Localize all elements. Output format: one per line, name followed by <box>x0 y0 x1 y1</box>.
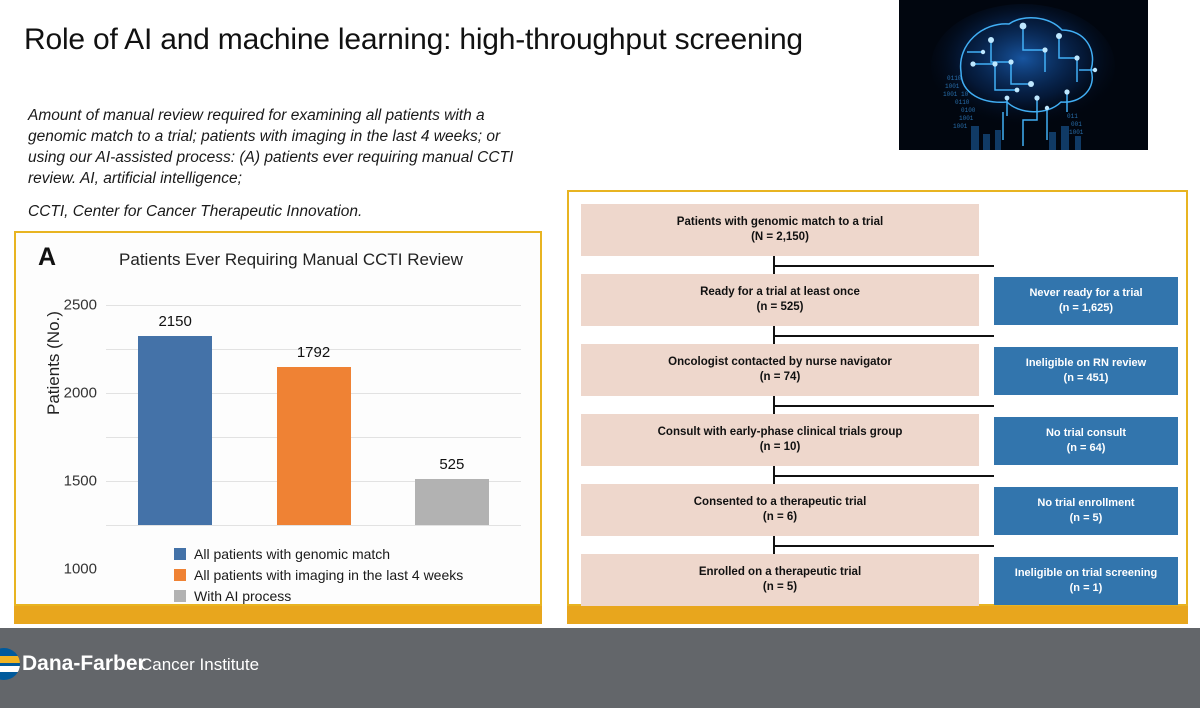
flow-step-label: Patients with genomic match to a trial <box>677 215 883 230</box>
flow-step-count: (n = 10) <box>760 440 801 455</box>
flow-exclusion-label: Ineligible on trial screening <box>1015 566 1157 581</box>
chart-bar-value-label: 2150 <box>138 313 212 330</box>
chart-legend-item: With AI process <box>174 585 463 606</box>
panel-b-accent-bar <box>567 606 1188 624</box>
chart-y-axis-label: Patients (No.) <box>44 311 64 415</box>
panel-label-a: A <box>38 243 56 272</box>
chart-y-tick: 2000 <box>64 385 97 402</box>
svg-text:011: 011 <box>1067 113 1078 120</box>
legend-swatch-icon <box>174 569 186 581</box>
flow-step-count: (n = 74) <box>760 370 801 385</box>
svg-text:001: 001 <box>1071 121 1082 128</box>
chart-legend: All patients with genomic matchAll patie… <box>174 543 463 606</box>
chart-legend-item: All patients with imaging in the last 4 … <box>174 564 463 585</box>
flow-connector-horizontal <box>773 265 994 267</box>
brain-graphic: 01101001 1001 100110 01001001 1001 01100… <box>899 0 1148 150</box>
caption-line-1: Amount of manual review required for exa… <box>28 107 513 187</box>
flow-exclusion-count: (n = 64) <box>1067 441 1106 456</box>
slide-root: Role of AI and machine learning: high-th… <box>0 0 1200 708</box>
legend-swatch-icon <box>174 590 186 602</box>
flow-connector-horizontal <box>773 405 994 407</box>
legend-label: All patients with imaging in the last 4 … <box>194 567 463 583</box>
svg-text:0110: 0110 <box>947 75 962 82</box>
svg-text:1001: 1001 <box>1069 129 1084 136</box>
legend-swatch-icon <box>174 548 186 560</box>
svg-text:1001: 1001 <box>959 115 974 122</box>
panel-b-flowchart: Patients with genomic match to a trial(N… <box>567 190 1188 606</box>
chart-bar: 1792 <box>277 367 351 525</box>
svg-text:1001: 1001 <box>953 123 968 130</box>
chart-y-tick: 1500 <box>64 473 97 490</box>
flow-step-label: Enrolled on a therapeutic trial <box>699 565 861 580</box>
svg-text:1001: 1001 <box>945 83 960 90</box>
chart-bar: 2150 <box>138 336 212 525</box>
flow-exclusion-box: No trial enrollment(n = 5) <box>994 487 1178 535</box>
flow-exclusion-count: (n = 1) <box>1070 581 1103 596</box>
flow-exclusion-label: Ineligible on RN review <box>1026 356 1146 371</box>
flow-step-count: (n = 525) <box>757 300 804 315</box>
flow-step-box: Ready for a trial at least once(n = 525) <box>581 274 979 326</box>
chart-y-tick: 2500 <box>64 297 97 314</box>
flow-exclusion-count: (n = 451) <box>1064 371 1109 386</box>
flow-step-count: (n = 6) <box>763 510 797 525</box>
flow-exclusion-count: (n = 1,625) <box>1059 301 1113 316</box>
chart-bar-value-label: 525 <box>415 456 489 473</box>
panel-a-chart: A Patients Ever Requiring Manual CCTI Re… <box>14 231 542 606</box>
flow-step-box: Patients with genomic match to a trial(N… <box>581 204 979 256</box>
svg-text:1001 10: 1001 10 <box>943 91 969 98</box>
svg-text:0100: 0100 <box>961 107 976 114</box>
flow-connector-horizontal <box>773 335 994 337</box>
chart-title: Patients Ever Requiring Manual CCTI Revi… <box>76 249 506 270</box>
flow-exclusion-label: Never ready for a trial <box>1029 286 1142 301</box>
caption-line-2: CCTI, Center for Cancer Therapeutic Inno… <box>28 202 518 223</box>
figure-caption: Amount of manual review required for exa… <box>28 106 518 223</box>
dana-farber-logo-icon <box>0 648 20 680</box>
flow-exclusion-label: No trial enrollment <box>1037 496 1134 511</box>
flow-step-count: (n = 5) <box>763 580 797 595</box>
legend-label: All patients with genomic match <box>194 546 390 562</box>
slide-footer: Dana-Farber Cancer Institute Kehl JCO PO… <box>0 628 1200 708</box>
flow-exclusion-box: Never ready for a trial(n = 1,625) <box>994 277 1178 325</box>
flow-connector-horizontal <box>773 545 994 547</box>
chart-gridline: 0 <box>106 525 521 526</box>
svg-text:0110: 0110 <box>955 99 970 106</box>
flow-step-box: Oncologist contacted by nurse navigator(… <box>581 344 979 396</box>
chart-y-tick: 1000 <box>64 561 97 578</box>
flow-step-label: Consult with early-phase clinical trials… <box>658 425 903 440</box>
flow-exclusion-box: Ineligible on RN review(n = 451) <box>994 347 1178 395</box>
page-title: Role of AI and machine learning: high-th… <box>24 23 904 57</box>
flow-step-label: Consented to a therapeutic trial <box>694 495 867 510</box>
flow-step-box: Enrolled on a therapeutic trial(n = 5) <box>581 554 979 606</box>
flow-exclusion-label: No trial consult <box>1046 426 1126 441</box>
chart-gridline: 2500 <box>106 305 521 306</box>
flow-step-box: Consult with early-phase clinical trials… <box>581 414 979 466</box>
flow-exclusion-box: Ineligible on trial screening(n = 1) <box>994 557 1178 605</box>
chart-bar: 525 <box>415 479 489 525</box>
dana-farber-name: Dana-Farber <box>22 652 146 676</box>
flow-step-box: Consented to a therapeutic trial(n = 6) <box>581 484 979 536</box>
legend-label: With AI process <box>194 588 291 604</box>
chart-bar-value-label: 1792 <box>277 344 351 361</box>
ai-brain-circuit-image: 01101001 1001 100110 01001001 1001 01100… <box>899 0 1148 150</box>
dana-farber-subtitle: Cancer Institute <box>140 655 259 675</box>
flow-exclusion-box: No trial consult(n = 64) <box>994 417 1178 465</box>
flow-connector-horizontal <box>773 475 994 477</box>
flow-step-count: (N = 2,150) <box>751 230 809 245</box>
flow-step-label: Ready for a trial at least once <box>700 285 860 300</box>
flow-step-label: Oncologist contacted by nurse navigator <box>668 355 892 370</box>
flow-exclusion-count: (n = 5) <box>1070 511 1103 526</box>
panel-a-accent-bar <box>14 606 542 624</box>
chart-plot-area: 0500100015002000250021501792525 <box>106 305 521 525</box>
chart-legend-item: All patients with genomic match <box>174 543 463 564</box>
